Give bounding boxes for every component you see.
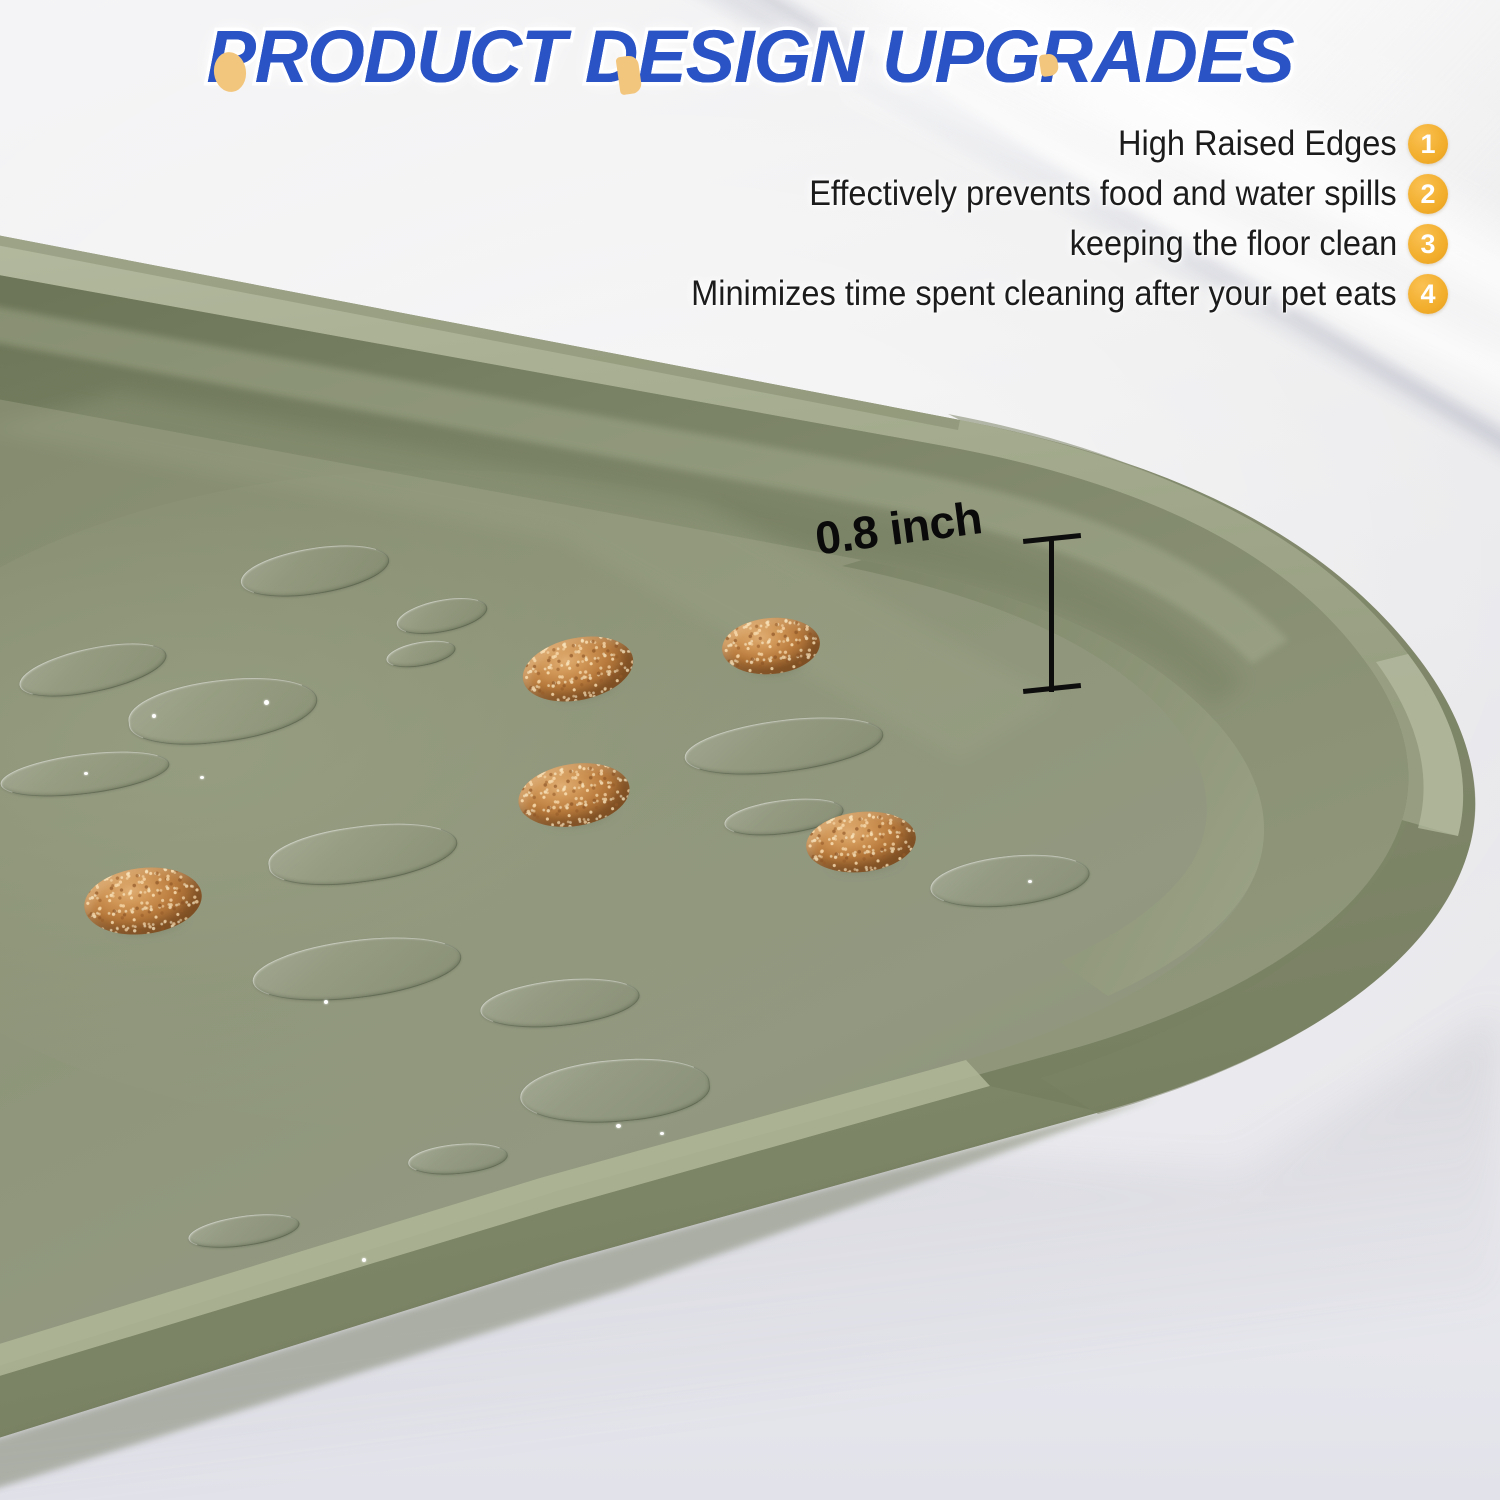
product-marketing-image: 0.8 inch PRODUCT DESIGN UPGRADES PRODUCT…	[0, 0, 1500, 1500]
droplet-specular-highlight	[200, 776, 204, 779]
page-title-outline: PRODUCT DESIGN UPGRADES	[0, 14, 1500, 99]
number-badge-4-icon: 4	[1408, 274, 1448, 314]
droplet-specular-highlight	[362, 1258, 366, 1262]
feature-label: Effectively prevents food and water spil…	[810, 174, 1397, 214]
feature-item-3: keeping the floor clean 3	[1045, 224, 1448, 264]
dimension-line-icon	[1018, 530, 1088, 702]
feature-label: Minimizes time spent cleaning after your…	[691, 274, 1397, 314]
droplet-specular-highlight	[616, 1124, 621, 1128]
number-badge-3-icon: 3	[1408, 224, 1448, 264]
droplet-specular-highlight	[324, 1000, 328, 1004]
feature-label: High Raised Edges	[1118, 124, 1397, 164]
droplet-specular-highlight	[84, 772, 88, 775]
feature-item-1: High Raised Edges 1	[1097, 124, 1448, 164]
droplet-specular-highlight	[660, 1132, 664, 1135]
feature-list: High Raised Edges 1 Effectively prevents…	[448, 124, 1448, 314]
feature-label: keeping the floor clean	[1069, 224, 1397, 264]
feature-item-2: Effectively prevents food and water spil…	[765, 174, 1448, 214]
droplet-specular-highlight	[152, 714, 156, 718]
droplet-specular-highlight	[1028, 880, 1032, 883]
droplet-specular-highlight	[264, 700, 269, 705]
feature-item-4: Minimizes time spent cleaning after your…	[638, 274, 1448, 314]
number-badge-1-icon: 1	[1408, 124, 1448, 164]
number-badge-2-icon: 2	[1408, 174, 1448, 214]
